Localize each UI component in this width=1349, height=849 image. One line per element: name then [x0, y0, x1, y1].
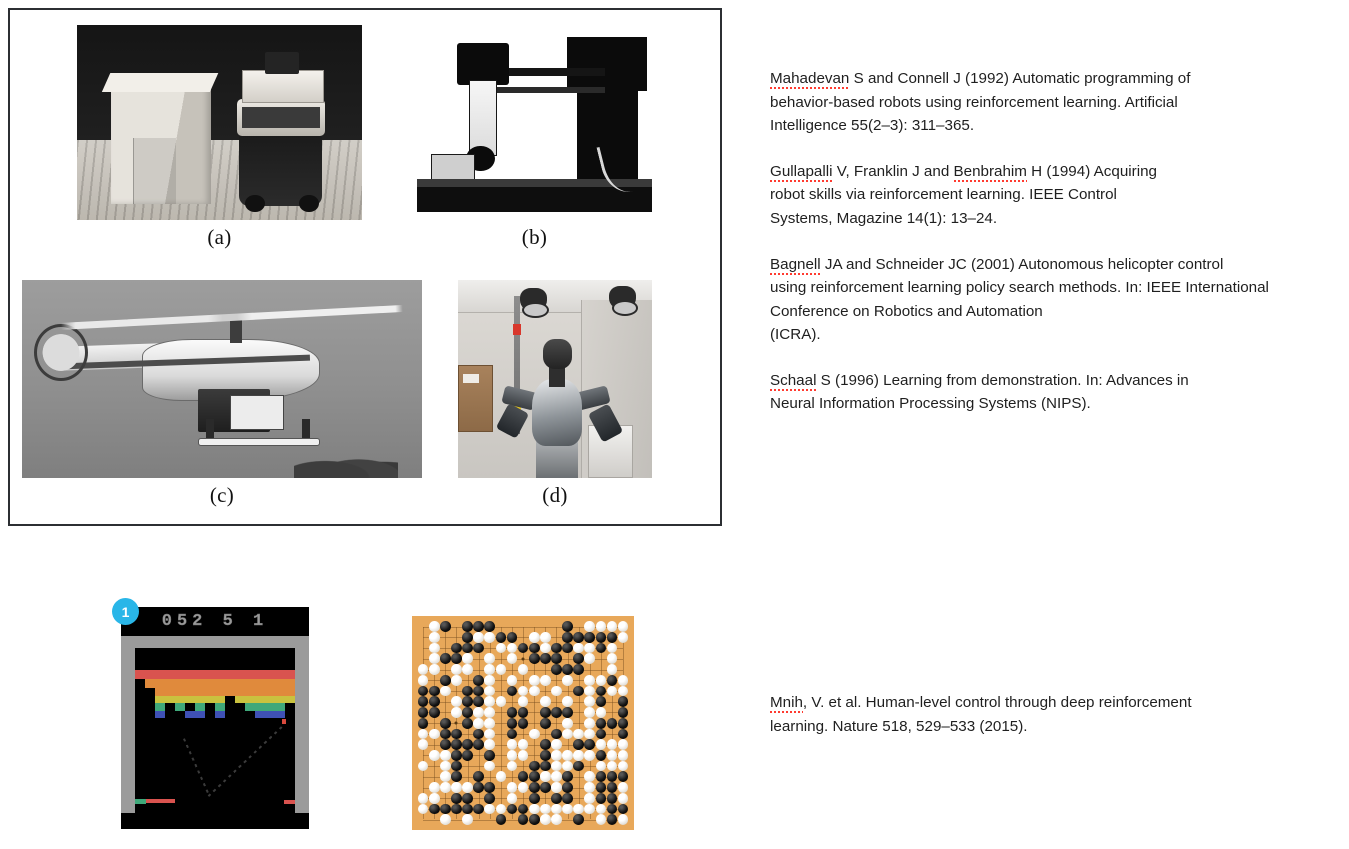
- go-stone-white: [618, 675, 629, 686]
- atari-brick: [265, 696, 275, 703]
- go-stone-white: [584, 643, 595, 654]
- go-stone-black: [473, 643, 484, 654]
- atari-brick: [165, 670, 175, 679]
- go-stone-black: [418, 696, 429, 707]
- atari-brick: [265, 711, 275, 718]
- go-stone-black: [496, 814, 507, 825]
- table-body: [417, 187, 652, 212]
- go-stone-black: [451, 761, 462, 772]
- go-stone-black: [473, 675, 484, 686]
- go-stone-white: [596, 761, 607, 772]
- go-stone-black: [462, 632, 473, 643]
- atari-brick: [185, 670, 195, 679]
- atari-brick: [185, 688, 195, 695]
- go-stone-black: [462, 793, 473, 804]
- go-stone-white: [529, 686, 540, 697]
- go-stone-white: [596, 707, 607, 718]
- go-stone-white: [496, 643, 507, 654]
- robot-sensor-ring: [237, 99, 325, 136]
- go-stone-black: [596, 632, 607, 643]
- robot-torso: [532, 379, 582, 446]
- go-stone-white: [562, 675, 573, 686]
- go-stone-white: [484, 696, 495, 707]
- misspelled-word: Benbrahim: [954, 163, 1027, 182]
- go-stone-black: [484, 782, 495, 793]
- atari-brick: [245, 679, 255, 688]
- atari-hud: 052 5 1: [121, 607, 309, 636]
- go-stone-white: [540, 696, 551, 707]
- go-stone-black: [607, 782, 618, 793]
- atari-brick: [215, 679, 225, 688]
- reference-item: Mnih, V. et al. Human-level control thro…: [770, 691, 1330, 738]
- go-stone-white: [507, 653, 518, 664]
- go-star-point: [455, 722, 458, 725]
- go-stone-white: [451, 675, 462, 686]
- helicopter-rotor-mast: [230, 320, 242, 344]
- go-stone-black: [562, 793, 573, 804]
- go-stone-white: [618, 632, 629, 643]
- go-stone-black: [473, 686, 484, 697]
- atari-top-rail: [121, 636, 309, 648]
- go-stone-white: [618, 739, 629, 750]
- go-stone-white: [440, 782, 451, 793]
- go-stone-white: [484, 739, 495, 750]
- go-stone-white: [440, 814, 451, 825]
- go-stone-black: [462, 643, 473, 654]
- atari-brick: [195, 670, 205, 679]
- go-stone-white: [507, 761, 518, 772]
- robot-arm-photo: [417, 25, 652, 220]
- atari-brick: [175, 670, 185, 679]
- go-stone-black: [429, 804, 440, 815]
- go-stone-white: [562, 804, 573, 815]
- go-stone-black: [496, 632, 507, 643]
- go-stone-black: [618, 729, 629, 740]
- go-stone-black: [562, 707, 573, 718]
- go-stone-white: [451, 782, 462, 793]
- go-stone-white: [484, 761, 495, 772]
- go-stone-black: [540, 718, 551, 729]
- atari-brick: [205, 670, 215, 679]
- go-stone-black: [573, 814, 584, 825]
- go-stone-white: [496, 771, 507, 782]
- go-stone-white: [607, 664, 618, 675]
- go-stone-black: [596, 643, 607, 654]
- go-stone-black: [573, 664, 584, 675]
- go-stone-white: [484, 664, 495, 675]
- go-stone-black: [484, 750, 495, 761]
- atari-brick: [235, 688, 245, 695]
- go-stone-white: [562, 696, 573, 707]
- go-stone-black: [473, 782, 484, 793]
- go-stone-black: [584, 632, 595, 643]
- go-stone-black: [518, 707, 529, 718]
- go-stone-black: [507, 804, 518, 815]
- go-stone-black: [596, 686, 607, 697]
- atari-brick: [255, 670, 265, 679]
- go-stone-black: [607, 718, 618, 729]
- go-stone-black: [596, 771, 607, 782]
- go-stone-white: [429, 664, 440, 675]
- go-stone-white: [584, 782, 595, 793]
- reference-text: V, Franklin J and: [832, 163, 953, 180]
- go-stone-white: [618, 761, 629, 772]
- go-stone-white: [562, 750, 573, 761]
- go-stone-white: [518, 782, 529, 793]
- go-stone-black: [507, 707, 518, 718]
- go-stone-white: [518, 696, 529, 707]
- go-stone-black: [462, 707, 473, 718]
- go-stone-white: [607, 761, 618, 772]
- go-stone-black: [607, 814, 618, 825]
- atari-brick: [215, 688, 225, 695]
- atari-brick: [195, 703, 205, 710]
- misspelled-word: Bagnell: [770, 256, 821, 275]
- go-stone-white: [584, 707, 595, 718]
- reference-text: S (1996) Learning from demonstration. In…: [770, 372, 1189, 413]
- atari-brick: [265, 703, 275, 710]
- go-stone-black: [518, 814, 529, 825]
- go-stone-white: [518, 664, 529, 675]
- go-stone-white: [451, 707, 462, 718]
- atari-brick: [155, 696, 165, 703]
- go-stone-white: [518, 739, 529, 750]
- go-stone-white: [618, 782, 629, 793]
- go-stone-black: [518, 804, 529, 815]
- go-stone-black: [551, 793, 562, 804]
- atari-paddle-left: [135, 799, 146, 804]
- go-stone-white: [551, 761, 562, 772]
- go-stone-black: [418, 686, 429, 697]
- atari-brick: [145, 679, 155, 688]
- atari-brick: [285, 696, 295, 703]
- atari-breakout-screenshot: 1 052 5 1: [121, 607, 309, 829]
- go-stone-white: [462, 782, 473, 793]
- go-stone-black: [573, 653, 584, 664]
- atari-brick: [255, 696, 265, 703]
- go-stone-black: [462, 804, 473, 815]
- go-stone-black: [473, 739, 484, 750]
- atari-brick: [245, 688, 255, 695]
- go-stone-white: [507, 750, 518, 761]
- go-stone-black: [440, 729, 451, 740]
- atari-brick: [205, 696, 215, 703]
- go-stone-black: [551, 707, 562, 718]
- atari-brick: [285, 679, 295, 688]
- go-stone-white: [507, 739, 518, 750]
- figure-panel-b: (b): [417, 25, 652, 220]
- go-stone-white: [429, 729, 440, 740]
- reference-item: Mahadevan S and Connell J (1992) Automat…: [770, 67, 1330, 138]
- go-stone-white: [451, 696, 462, 707]
- go-stone-white: [551, 686, 562, 697]
- go-stone-black: [573, 632, 584, 643]
- go-stone-white: [562, 729, 573, 740]
- atari-life-marker: [284, 800, 295, 804]
- go-stone-white: [573, 729, 584, 740]
- go-stone-white: [484, 707, 495, 718]
- go-stone-black: [451, 653, 462, 664]
- go-stone-black: [607, 793, 618, 804]
- go-stone-white: [573, 804, 584, 815]
- go-stone-black: [462, 739, 473, 750]
- go-stone-white: [418, 793, 429, 804]
- go-stone-white: [584, 621, 595, 632]
- go-stone-black: [529, 771, 540, 782]
- go-stone-black: [507, 718, 518, 729]
- go-stone-white: [473, 718, 484, 729]
- go-stone-white: [562, 761, 573, 772]
- reference-mnih: Mnih, V. et al. Human-level control thro…: [770, 676, 1330, 760]
- go-stone-black: [607, 675, 618, 686]
- go-stone-black: [618, 804, 629, 815]
- go-stone-white: [507, 643, 518, 654]
- go-stone-black: [596, 782, 607, 793]
- atari-brick: [245, 703, 255, 710]
- go-stone-black: [451, 729, 462, 740]
- ball-trajectory: [207, 724, 284, 796]
- callout-badge-1: 1: [112, 598, 139, 625]
- atari-brick: [165, 679, 175, 688]
- go-stone-black: [529, 814, 540, 825]
- go-stone-white: [418, 761, 429, 772]
- pole-red-marker: [513, 324, 521, 336]
- ceiling-spotlight: [520, 288, 547, 312]
- atari-left-wall: [121, 636, 135, 814]
- go-stone-white: [540, 804, 551, 815]
- go-stone-black: [507, 686, 518, 697]
- helicopter-avionics-box: [230, 395, 284, 431]
- go-stone-white: [418, 675, 429, 686]
- go-stone-white: [584, 686, 595, 697]
- go-stone-black: [551, 729, 562, 740]
- go-stone-black: [618, 707, 629, 718]
- go-stone-white: [529, 804, 540, 815]
- helicopter-tail-rotor: [34, 324, 88, 381]
- atari-brick: [215, 670, 225, 679]
- go-stone-white: [529, 675, 540, 686]
- atari-brick: [215, 696, 225, 703]
- go-stone-black: [518, 718, 529, 729]
- go-stone-black: [484, 621, 495, 632]
- references-list: Mahadevan S and Connell J (1992) Automat…: [770, 52, 1330, 438]
- atari-brick: [235, 670, 245, 679]
- arm-post-head: [567, 37, 647, 92]
- atari-brick: [195, 679, 205, 688]
- atari-brick: [155, 703, 165, 710]
- go-stone-black: [584, 739, 595, 750]
- atari-brick: [185, 696, 195, 703]
- go-stone-black: [462, 696, 473, 707]
- atari-brick: [205, 679, 215, 688]
- atari-brick: [245, 670, 255, 679]
- go-stone-black: [418, 718, 429, 729]
- go-stone-white: [584, 729, 595, 740]
- go-stone-black: [596, 750, 607, 761]
- go-stone-white: [607, 621, 618, 632]
- go-stone-black: [451, 750, 462, 761]
- go-stone-black: [607, 632, 618, 643]
- atari-brick: [175, 679, 185, 688]
- atari-brick: [165, 688, 175, 695]
- go-stone-white: [573, 750, 584, 761]
- atari-brick: [255, 703, 265, 710]
- go-stone-white: [584, 793, 595, 804]
- atari-brick: [255, 679, 265, 688]
- go-stone-white: [529, 632, 540, 643]
- go-stone-black: [551, 664, 562, 675]
- go-stone-white: [418, 804, 429, 815]
- go-stone-black: [451, 643, 462, 654]
- misspelled-word: Mnih: [770, 694, 803, 713]
- go-stone-white: [429, 643, 440, 654]
- robot-wheel: [245, 195, 265, 213]
- go-stone-white: [496, 696, 507, 707]
- go-stone-black: [518, 771, 529, 782]
- atari-brick: [185, 711, 195, 718]
- atari-brick: [155, 679, 165, 688]
- go-stone-black: [573, 686, 584, 697]
- go-stone-black: [596, 729, 607, 740]
- go-stone-black: [462, 686, 473, 697]
- go-stone-black: [451, 804, 462, 815]
- go-stone-black: [540, 782, 551, 793]
- go-stone-white: [573, 643, 584, 654]
- go-stone-white: [440, 761, 451, 772]
- go-stone-black: [618, 718, 629, 729]
- ball-trajectory: [183, 738, 210, 797]
- go-stone-black: [596, 696, 607, 707]
- go-stone-white: [618, 750, 629, 761]
- go-stone-black: [440, 675, 451, 686]
- go-stone-black: [618, 771, 629, 782]
- go-stone-black: [529, 653, 540, 664]
- humanoid-robot-photo: [458, 280, 652, 478]
- go-stone-white: [551, 771, 562, 782]
- atari-brick: [245, 696, 255, 703]
- atari-brick: [215, 711, 225, 718]
- atari-brick: [275, 688, 285, 695]
- go-stone-black: [596, 793, 607, 804]
- atari-brick: [285, 670, 295, 679]
- go-stone-white: [418, 729, 429, 740]
- atari-brick: [135, 670, 145, 679]
- go-stone-black: [607, 771, 618, 782]
- atari-brick: [275, 711, 285, 718]
- atari-brick: [225, 670, 235, 679]
- go-stone-black: [440, 718, 451, 729]
- go-stone-white: [618, 686, 629, 697]
- atari-brick: [235, 679, 245, 688]
- go-stone-white: [484, 632, 495, 643]
- go-stone-white: [540, 643, 551, 654]
- go-stone-black: [529, 793, 540, 804]
- go-stone-black: [451, 771, 462, 782]
- go-stone-white: [473, 707, 484, 718]
- go-stone-white: [462, 653, 473, 664]
- reference-item: Schaal S (1996) Learning from demonstrat…: [770, 369, 1330, 416]
- go-grid: [423, 627, 623, 820]
- go-stone-white: [418, 664, 429, 675]
- misspelled-word: Mahadevan: [770, 70, 849, 89]
- atari-brick: [275, 696, 285, 703]
- go-stone-white: [540, 814, 551, 825]
- go-stone-white: [484, 653, 495, 664]
- go-stone-black: [418, 707, 429, 718]
- atari-brick: [195, 696, 205, 703]
- go-stone-black: [562, 621, 573, 632]
- robot-head: [543, 339, 572, 369]
- go-stone-white: [584, 653, 595, 664]
- atari-brick: [155, 711, 165, 718]
- go-stone-white: [551, 750, 562, 761]
- background-trees: [294, 450, 398, 478]
- reference-item: Gullapalli V, Franklin J and Benbrahim H…: [770, 160, 1330, 231]
- figure-panel-d: (d): [458, 280, 652, 478]
- robot-electronics-deck: [242, 70, 324, 103]
- go-stone-white: [429, 782, 440, 793]
- go-stone-black: [473, 804, 484, 815]
- go-stone-white: [440, 750, 451, 761]
- atari-ball: [282, 719, 286, 724]
- go-stone-white: [429, 653, 440, 664]
- go-stone-white: [518, 750, 529, 761]
- atari-brick: [225, 688, 235, 695]
- go-stone-black: [540, 750, 551, 761]
- go-stone-black: [473, 621, 484, 632]
- atari-brick: [285, 688, 295, 695]
- go-stone-black: [562, 771, 573, 782]
- atari-brick: [255, 688, 265, 695]
- panel-d-label: (d): [458, 483, 652, 508]
- mobile-robot-with-box-photo: [77, 25, 362, 220]
- go-stone-white: [496, 664, 507, 675]
- atari-score-display: 052 5 1: [162, 612, 268, 631]
- go-stone-white: [429, 750, 440, 761]
- go-stone-black: [440, 653, 451, 664]
- reference-text: , V. et al. Human-level control through …: [770, 694, 1192, 735]
- go-stone-white: [607, 653, 618, 664]
- atari-brick: [175, 703, 185, 710]
- atari-brick: [165, 696, 175, 703]
- go-stone-white: [484, 718, 495, 729]
- go-stone-white: [584, 771, 595, 782]
- go-stone-white: [518, 686, 529, 697]
- atari-brick: [265, 688, 275, 695]
- go-stone-black: [573, 739, 584, 750]
- figure-panel-box: (a) (b): [8, 8, 722, 526]
- go-stone-white: [484, 729, 495, 740]
- go-stone-white: [540, 771, 551, 782]
- go-stone-black: [440, 621, 451, 632]
- go-stone-black: [529, 761, 540, 772]
- go-stone-white: [618, 814, 629, 825]
- go-stone-white: [462, 664, 473, 675]
- go-stone-black: [540, 761, 551, 772]
- go-stone-black: [618, 696, 629, 707]
- go-stone-black: [529, 782, 540, 793]
- go-stone-black: [551, 643, 562, 654]
- go-stone-white: [507, 782, 518, 793]
- go-stone-black: [562, 643, 573, 654]
- go-stone-black: [462, 750, 473, 761]
- reference-item: Bagnell JA and Schneider JC (2001) Auton…: [770, 253, 1330, 347]
- go-stone-white: [529, 729, 540, 740]
- go-stone-white: [618, 621, 629, 632]
- arm-link: [469, 80, 497, 156]
- go-stone-white: [496, 804, 507, 815]
- go-stone-black: [462, 621, 473, 632]
